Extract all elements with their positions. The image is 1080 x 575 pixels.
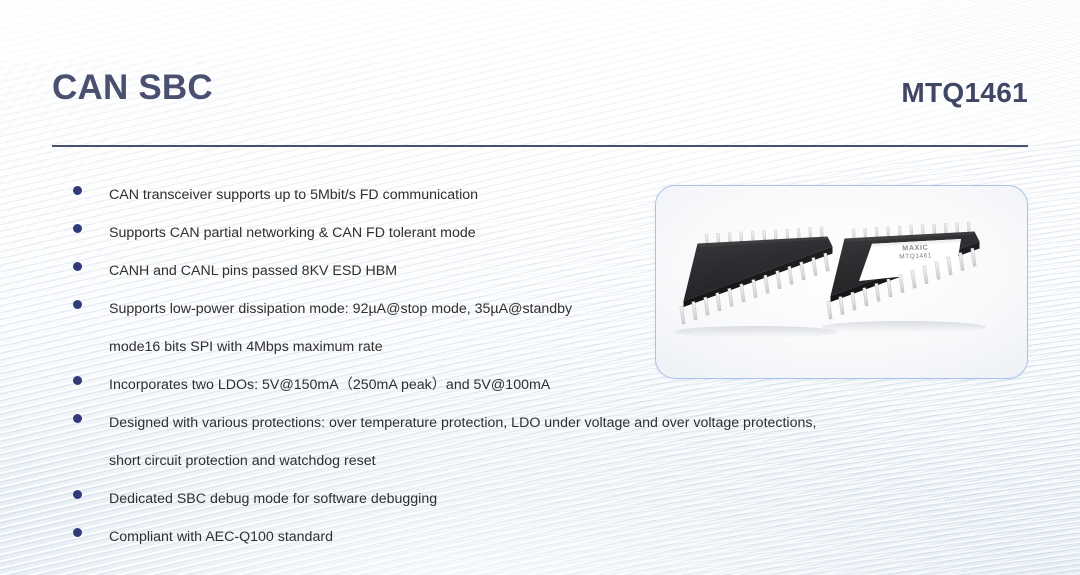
bullet-dot-icon [73, 528, 82, 537]
list-item-label: Designed with various protections: over … [109, 404, 1009, 442]
bullet-dot-icon [73, 490, 82, 499]
part-number: MTQ1461 [901, 79, 1028, 107]
list-item: Compliant with AEC-Q100 standard [52, 518, 952, 556]
product-image-panel: MAXIC MTQ1461 [655, 185, 1028, 379]
list-item-label: Dedicated SBC debug mode for software de… [109, 480, 952, 518]
bullet-dot-icon [73, 300, 82, 309]
bullet-dot-icon [73, 414, 82, 423]
bullet-dot-icon [73, 224, 82, 233]
page-title: CAN SBC [52, 70, 213, 105]
header-divider [52, 145, 1028, 147]
chip-package-illustration [656, 186, 1027, 378]
bullet-dot-icon [73, 186, 82, 195]
list-item: Designed with various protections: over … [52, 404, 1009, 480]
list-item-label: Compliant with AEC-Q100 standard [109, 518, 952, 556]
bullet-dot-icon [73, 262, 82, 271]
slide-canvas: CAN SBC MTQ1461 CAN transceiver supports… [0, 0, 1080, 575]
product-image: MAXIC MTQ1461 [656, 186, 1027, 378]
bullet-dot-icon [73, 376, 82, 385]
list-item: Dedicated SBC debug mode for software de… [52, 480, 952, 518]
slide-header: CAN SBC MTQ1461 [0, 0, 1080, 150]
list-item-label-continued: short circuit protection and watchdog re… [109, 442, 1009, 480]
